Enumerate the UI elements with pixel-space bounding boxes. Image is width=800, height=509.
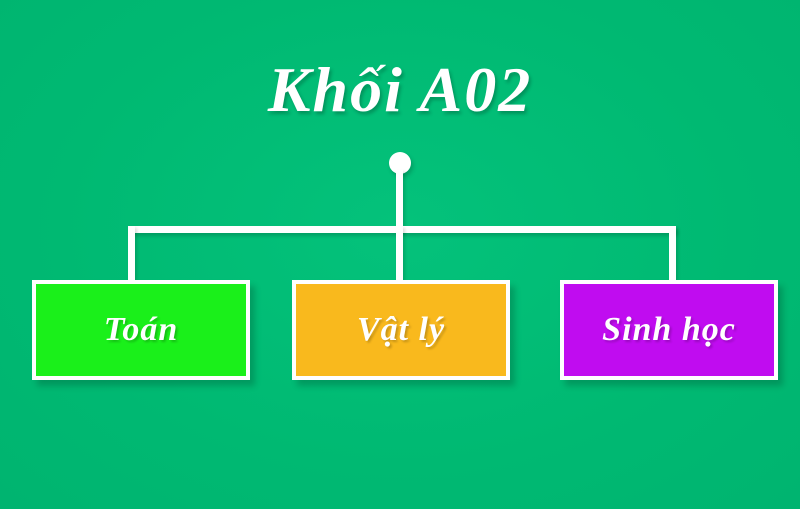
subject-box-sinh-hoc[interactable]: Sinh học <box>560 280 778 380</box>
subject-label-toan: Toán <box>104 311 179 349</box>
connector-drop-center <box>396 226 403 284</box>
subject-label-sinh-hoc: Sinh học <box>602 311 736 349</box>
subject-label-vat-ly: Vật lý <box>357 311 445 349</box>
connector-stem-vertical <box>396 170 403 232</box>
subject-box-vat-ly[interactable]: Vật lý <box>292 280 510 380</box>
page-title: Khối A02 <box>0 52 800 128</box>
subject-box-toan[interactable]: Toán <box>32 280 250 380</box>
infographic-canvas: Khối A02 Toán Vật lý Sinh học <box>0 0 800 509</box>
connector-drop-left <box>128 226 135 284</box>
connector-drop-right <box>669 226 676 284</box>
